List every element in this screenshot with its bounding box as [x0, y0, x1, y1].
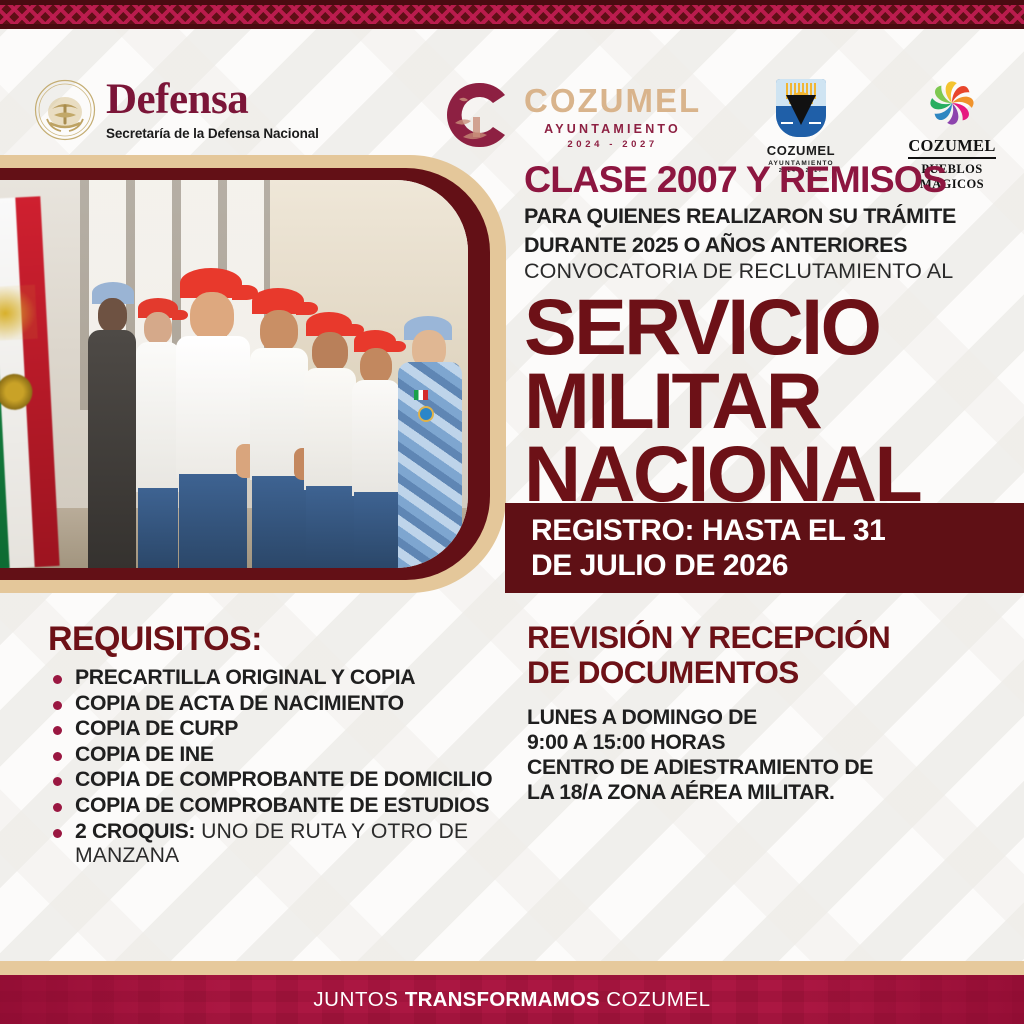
convocatoria-line: CONVOCATORIA DE RECLUTAMIENTO AL: [524, 259, 1024, 284]
registro-line-1: REGISTRO: HASTA EL 31: [531, 513, 1024, 548]
logo-cozumel-ayuntamiento: COZUMEL AYUNTAMIENTO 2024 - 2027: [443, 79, 701, 151]
page-title: SERVICIO MILITAR NACIONAL: [524, 290, 1024, 510]
conscripts-lineup-photo: [0, 180, 468, 568]
tramite-line-2: DURANTE 2025 O AÑOS ANTERIORES: [524, 233, 1024, 257]
revision-location-line-2: LA 18/A ZONA AÉREA MILITAR.: [527, 780, 997, 805]
pueblos-magicos-pinwheel-icon: [925, 79, 979, 129]
revision-section: REVISIÓN Y RECEPCIÓN DE DOCUMENTOS LUNES…: [527, 620, 997, 805]
photo-scene: [0, 180, 468, 568]
clase-heading: CLASE 2007 Y REMISOS: [524, 160, 1024, 199]
revision-days: LUNES A DOMINGO DE: [527, 705, 997, 730]
footer-slogan-pre: JUNTOS: [313, 988, 405, 1011]
cozumel-wordmark: COZUMEL: [524, 84, 701, 117]
title-line-servicio: SERVICIO: [524, 290, 1024, 363]
croquis-bold-label: 2 CROQUIS:: [75, 820, 195, 843]
requisitos-section: REQUISITOS: PRECARTILLA ORIGINAL Y COPIA…: [48, 622, 518, 870]
revision-body: LUNES A DOMINGO DE 9:00 A 15:00 HORAS CE…: [527, 705, 997, 805]
revision-title-line-1: REVISIÓN Y RECEPCIÓN: [527, 620, 997, 655]
footer-slogan-post: COZUMEL: [600, 988, 711, 1011]
pueblos-magicos-wordmark: COZUMEL: [908, 136, 995, 159]
registro-banner: REGISTRO: HASTA EL 31 DE JULIO DE 2026: [505, 503, 1024, 593]
title-line-militar: MILITAR: [524, 364, 1024, 437]
defensa-wordmark: Defensa: [106, 79, 319, 121]
list-item: COPIA DE INE: [48, 743, 518, 768]
defensa-subtitle: Secretaría de la Defensa Nacional: [106, 126, 319, 141]
revision-title: REVISIÓN Y RECEPCIÓN DE DOCUMENTOS: [527, 620, 997, 689]
escudo-name-label: COZUMEL: [766, 143, 836, 158]
photo-gold-frame: [0, 155, 506, 593]
cozumel-c-monogram-icon: [443, 79, 515, 151]
list-item-croquis: 2 CROQUIS: UNO DE RUTA Y OTRO DE MANZANA: [48, 820, 518, 869]
cozumel-shield-icon: [776, 79, 826, 137]
mexican-coat-of-arms-icon: [34, 79, 96, 141]
requisitos-list: PRECARTILLA ORIGINAL Y COPIA COPIA DE AC…: [48, 666, 518, 869]
title-line-nacional: NACIONAL: [524, 437, 1024, 510]
poster-root: Defensa Secretaría de la Defensa Naciona…: [0, 0, 1024, 1024]
header-logo-bar: Defensa Secretaría de la Defensa Naciona…: [0, 29, 1024, 155]
requisitos-title: REQUISITOS:: [48, 622, 518, 656]
list-item: COPIA DE CURP: [48, 717, 518, 742]
revision-title-line-2: DE DOCUMENTOS: [527, 655, 997, 690]
registro-line-2: DE JULIO DE 2026: [531, 548, 1024, 583]
footer-slogan-bold: TRANSFORMAMOS: [405, 988, 600, 1011]
list-item: COPIA DE ACTA DE NACIMIENTO: [48, 692, 518, 717]
cozumel-years-label: 2024 - 2027: [567, 139, 657, 150]
list-item: COPIA DE COMPROBANTE DE DOMICILIO: [48, 768, 518, 793]
tramite-line-1: PARA QUIENES REALIZARON SU TRÁMITE: [524, 204, 1024, 228]
revision-hours: 9:00 A 15:00 HORAS: [527, 730, 997, 755]
headline-block: CLASE 2007 Y REMISOS PARA QUIENES REALIZ…: [524, 160, 1024, 511]
top-greca-band: [0, 0, 1024, 29]
logo-defensa: Defensa Secretaría de la Defensa Naciona…: [34, 79, 319, 141]
list-item: PRECARTILLA ORIGINAL Y COPIA: [48, 666, 518, 691]
footer-band: JUNTOS TRANSFORMAMOS COZUMEL: [0, 975, 1024, 1024]
cozumel-ayuntamiento-label: AYUNTAMIENTO: [544, 122, 681, 136]
revision-location-line-1: CENTRO DE ADIESTRAMIENTO DE: [527, 755, 997, 780]
footer-gold-strip: [0, 961, 1024, 975]
photo-maroon-frame: [0, 168, 490, 580]
band-edge-top: [0, 0, 1024, 5]
list-item: COPIA DE COMPROBANTE DE ESTUDIOS: [48, 794, 518, 819]
footer-slogan: JUNTOS TRANSFORMAMOS COZUMEL: [313, 988, 710, 1012]
